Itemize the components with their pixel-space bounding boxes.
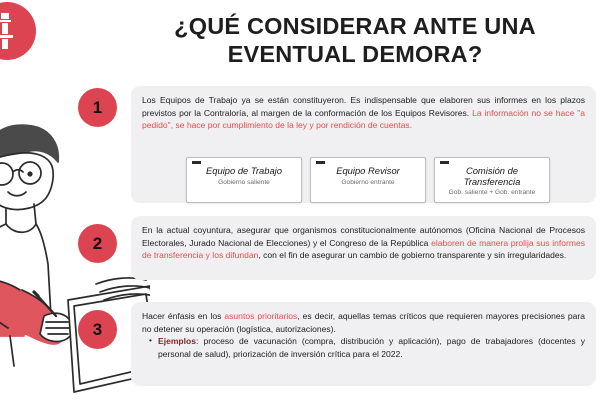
card-comision-de-transferencia[interactable]: Comisión de Transferencia Gob. saliente … — [434, 157, 550, 203]
page-title: ¿QUÉ CONSIDERAR ANTE UNA EVENTUAL DEMORA… — [120, 12, 590, 69]
person-with-clipboard-illustration — [0, 104, 150, 400]
organization-logo — [0, 2, 36, 60]
card-equipo-de-trabajo[interactable]: Equipo de Trabajo Gobierno saliente — [186, 157, 302, 203]
section-2-paragraph: En la actual coyuntura, asegurar que org… — [142, 224, 585, 262]
section-1-number-badge: 1 — [78, 88, 117, 127]
card-equipo-revisor[interactable]: Equipo Revisor Gobierno entrante — [310, 157, 426, 203]
hair — [0, 125, 58, 162]
card-title: Comisión de Transferencia — [441, 166, 543, 187]
bullet-text: : proceso de vacunación (compra, distrib… — [158, 336, 585, 359]
section-3-number-badge: 3 — [78, 310, 117, 349]
section-2-panel: En la actual coyuntura, asegurar que org… — [131, 216, 596, 280]
section-1-paragraph: Los Equipos de Trabajo ya se están const… — [142, 94, 585, 132]
section-3-panel: Hacer énfasis en los asuntos prioritario… — [131, 302, 596, 386]
card-title: Equipo Revisor — [317, 166, 419, 177]
list-item: Ejemplos: proceso de vacunación (compra,… — [158, 335, 585, 360]
page-title-line-1: ¿QUÉ CONSIDERAR ANTE UNA — [120, 12, 590, 40]
card-subtitle: Gobierno entrante — [317, 179, 419, 187]
section-3-text-highlight: asuntos prioritarios — [224, 311, 297, 321]
section-2-number-badge: 2 — [78, 224, 117, 263]
card-subtitle: Gobierno saliente — [193, 179, 295, 187]
section-2-text-part-3: , con el fin de asegurar un cambio de go… — [258, 250, 566, 260]
section-3-text-part-1: Hacer énfasis en los — [142, 311, 224, 321]
card-subtitle: Gob. saliente + Gob. entrante — [441, 189, 543, 197]
section-3-paragraph: Hacer énfasis en los asuntos prioritario… — [142, 310, 585, 335]
bullet-label: Ejemplos — [158, 336, 196, 346]
section-1-panel: Los Equipos de Trabajo ya se están const… — [131, 86, 596, 203]
card-title: Equipo de Trabajo — [193, 166, 295, 177]
page-title-line-2: EVENTUAL DEMORA? — [120, 40, 590, 68]
logo-glyph-icon — [0, 13, 14, 49]
section-1-cards: Equipo de Trabajo Gobierno saliente Equi… — [186, 157, 550, 203]
section-3-bullet-list: Ejemplos: proceso de vacunación (compra,… — [142, 335, 585, 360]
